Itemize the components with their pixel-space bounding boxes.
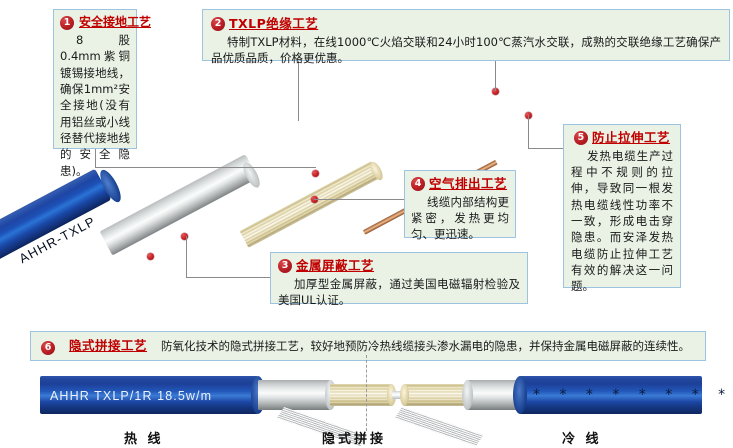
callout-box-2: 2 TXLP绝缘工艺 特制TXLP材料，在线1000℃火焰交联和24小时100℃… <box>202 9 730 61</box>
callout-6-row: 6 隐式拼接工艺 防氧化技术的隐式拼接工艺，较好地预防冷热线缆接头渗水漏电的隐患… <box>41 337 695 355</box>
callout-box-6: 6 隐式拼接工艺 防氧化技术的隐式拼接工艺，较好地预防冷热线缆接头渗水漏电的隐患… <box>30 331 706 361</box>
callout-3-body: 加厚型金属屏蔽，通过美国电磁辐射检验及美国UL认证。 <box>278 276 520 309</box>
anchor-dot-jacket <box>147 253 154 260</box>
callout-1-body: 8股0.4mm紫铜镀锡接地线，确保1mm²安全接地(没有用铝丝或小线径替代接地线… <box>60 32 130 179</box>
callout-2-title: TXLP绝缘工艺 <box>229 15 318 33</box>
hot-wire-label: AHHR TXLP/1R 18.5w/m <box>50 389 212 403</box>
cold-wire-txlp-insulation <box>404 384 470 406</box>
hot-wire-metallic-shield <box>258 380 330 410</box>
callout-2-header: 2 TXLP绝缘工艺 <box>211 15 721 33</box>
callout-5-number-badge: 5 <box>574 131 588 145</box>
leader-line-4-horizontal <box>314 199 405 200</box>
callout-6-title: 隐式拼接工艺 <box>69 337 147 355</box>
callout-box-1: 1 安全接地工艺 8股0.4mm紫铜镀锡接地线，确保1mm²安全接地(没有用铝丝… <box>53 9 137 149</box>
callout-1-header: 1 安全接地工艺 <box>60 14 130 31</box>
leader-line-3-horizontal <box>186 277 271 278</box>
caption-cold-wire: 冷 线 <box>562 428 602 447</box>
callout-box-4: 4 空气排出工艺 线缆内部结构更紧密，发热更均匀、更迅速。 <box>404 170 516 238</box>
callout-4-title: 空气排出工艺 <box>429 175 507 193</box>
anchor-dot-ground <box>312 170 319 177</box>
hot-wire-txlp-insulation <box>330 384 392 406</box>
callout-3-number-badge: 3 <box>278 259 292 273</box>
callout-3-header: 3 金属屏蔽工艺 <box>278 257 520 275</box>
callout-6-body: 防氧化技术的隐式拼接工艺，较好地预防冷热线缆接头渗水漏电的隐患，并保持金属电磁屏… <box>161 338 690 354</box>
callout-1-title: 安全接地工艺 <box>79 14 151 31</box>
leader-line-5-horizontal <box>528 148 564 149</box>
callout-5-body: 发热电缆生产过程中不规则的拉伸，导致同一根发热电缆线性功率不一致，形成电击穿隐患… <box>571 148 673 295</box>
cold-wire-shield-end-face <box>462 380 473 410</box>
callout-4-body: 线缆内部结构更紧密，发热更均匀、更迅速。 <box>411 194 509 243</box>
callout-3-title: 金属屏蔽工艺 <box>296 257 374 275</box>
callout-2-body: 特制TXLP材料，在线1000℃火焰交联和24小时100℃蒸汽水交联，成熟的交联… <box>211 34 721 67</box>
splice-marker-dashed-line <box>366 355 367 431</box>
callout-5-title: 防止拉伸工艺 <box>592 129 670 147</box>
leader-line-2-vertical <box>298 61 299 121</box>
caption-hot-wire: 热 线 <box>124 428 164 447</box>
callout-1-number-badge: 1 <box>60 16 74 30</box>
leader-line-3-vertical <box>186 236 187 278</box>
cold-wire-insulation-end-face <box>400 384 409 406</box>
callout-box-3: 3 金属屏蔽工艺 加厚型金属屏蔽，通过美国电磁辐射检验及美国UL认证。 <box>270 252 528 304</box>
callout-4-number-badge: 4 <box>411 177 425 191</box>
leader-line-5-vertical <box>528 115 529 148</box>
callout-2-number-badge: 2 <box>211 17 225 31</box>
bottom-cable-assembly: AHHR TXLP/1R 18.5w/m * * * * * * * * * *… <box>0 373 733 448</box>
cold-wire-marks: * * * * * * * * * * <box>533 387 733 403</box>
callout-6-number-badge: 6 <box>41 341 55 355</box>
cold-wire-ground-braid <box>395 407 484 446</box>
caption-splice: 隐式拼接 <box>322 428 386 447</box>
diagram-canvas: AHHR-TXLP 1 安全接地工艺 8股0.4mm紫铜镀锡接地线，确保1mm²… <box>0 0 733 448</box>
cold-wire-jacket-end-face <box>513 376 527 414</box>
callout-5-header: 5 防止拉伸工艺 <box>571 129 673 147</box>
callout-box-5: 5 防止拉伸工艺 发热电缆生产过程中不规则的拉伸，导致同一根发热电缆线性功率不一… <box>563 124 681 288</box>
cable-txlp-insulation <box>240 161 381 248</box>
callout-4-header: 4 空气排出工艺 <box>411 175 509 193</box>
